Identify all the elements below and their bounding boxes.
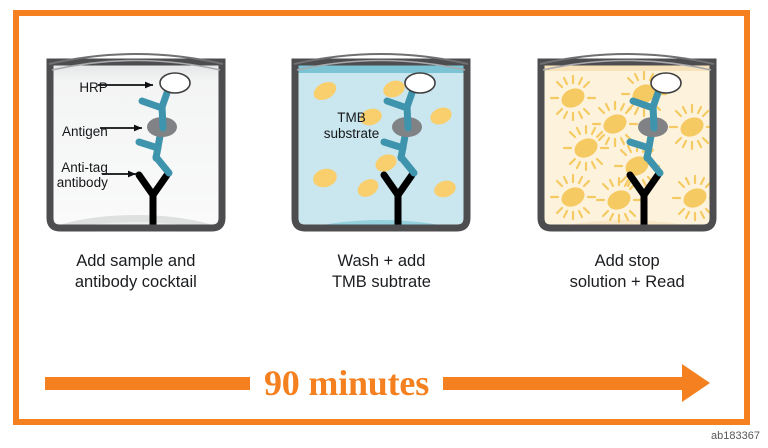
well-3-graphic — [527, 32, 727, 237]
signal-particle — [551, 76, 595, 120]
hrp-icon — [651, 73, 681, 93]
well-2-graphic — [281, 32, 481, 237]
catalog-code: ab183367 — [711, 430, 760, 442]
well-3 — [527, 32, 727, 237]
caption-step-3: Add stop solution + Read — [570, 251, 685, 294]
signal-particle — [551, 175, 595, 219]
signal-particle — [670, 105, 714, 149]
well-1: HRP Antigen Anti-tag antibody — [36, 32, 236, 237]
panels-row: HRP Antigen Anti-tag antibody Add sample… — [13, 10, 750, 330]
signal-particle — [564, 126, 608, 170]
panel-step-2: TMB substrate Wash + add TMB subtrate — [274, 10, 489, 294]
caption-step-2: Wash + add TMB subtrate — [332, 251, 431, 294]
panel-step-1: HRP Antigen Anti-tag antibody Add sample… — [28, 10, 243, 294]
caption-step-1: Add sample and antibody cocktail — [75, 251, 197, 294]
figure-canvas: HRP Antigen Anti-tag antibody Add sample… — [0, 0, 768, 448]
hrp-icon — [160, 73, 190, 93]
well-1-graphic — [36, 32, 236, 237]
timeline-bar-right — [443, 377, 682, 390]
timeline-bar-left — [45, 377, 250, 390]
timeline-label: 90 minutes — [250, 362, 443, 404]
timeline-arrow: 90 minutes — [45, 358, 710, 408]
well-1-interior — [50, 62, 222, 228]
well-2: TMB substrate — [281, 32, 481, 237]
panel-step-3: Add stop solution + Read — [520, 10, 735, 294]
hrp-icon — [405, 73, 435, 93]
timeline-arrowhead-icon — [682, 364, 710, 402]
